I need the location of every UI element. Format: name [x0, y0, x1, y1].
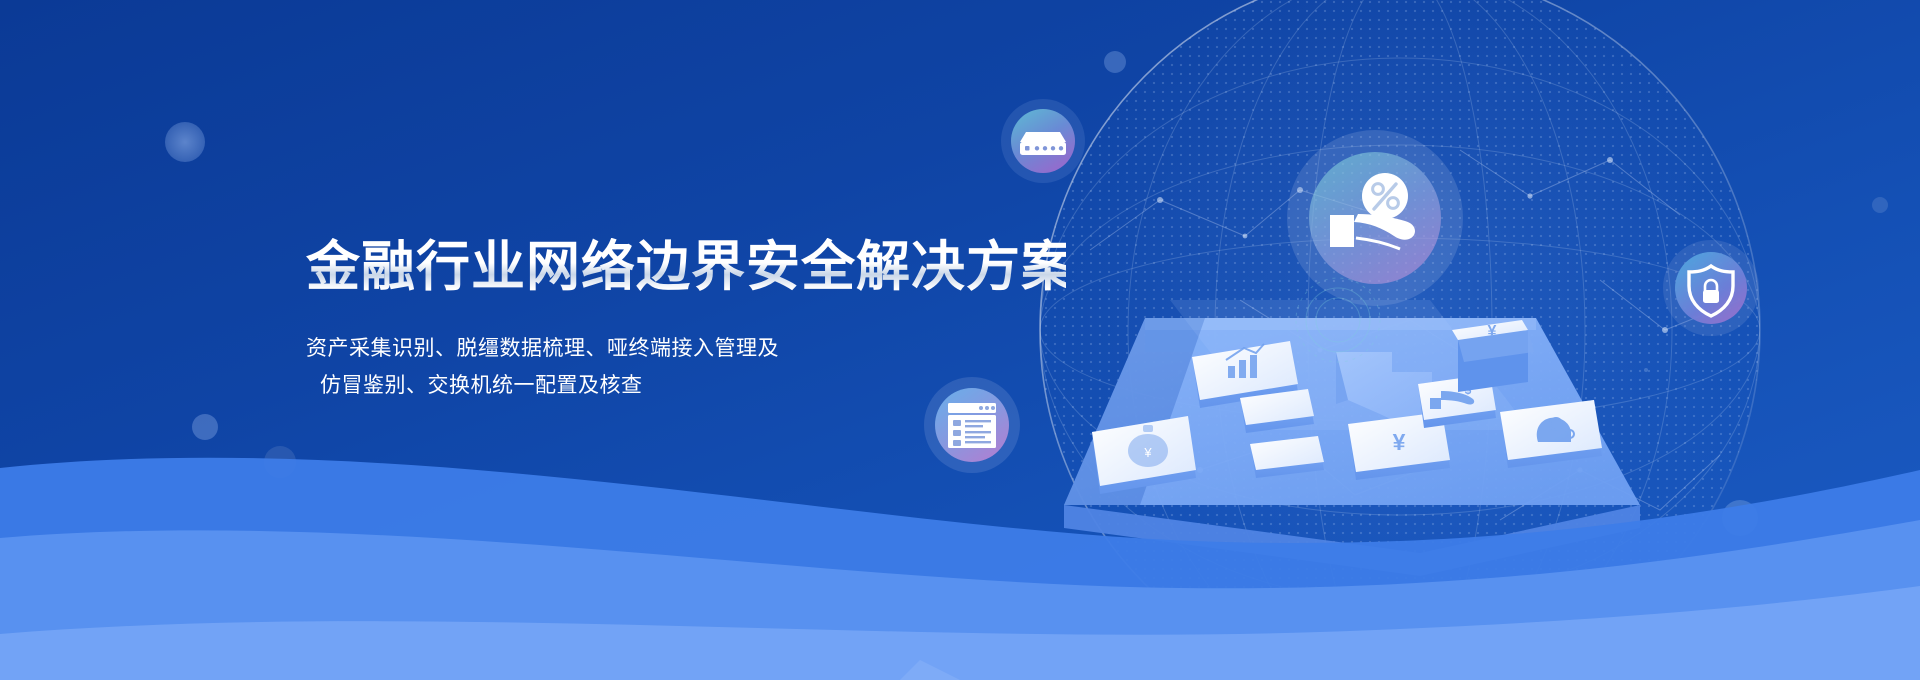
subtitle-line-1: 资产采集识别、脱缰数据梳理、哑终端接入管理及: [306, 331, 1066, 368]
subtitle-line-2: 仿冒鉴别、交换机统一配置及核查: [306, 368, 1066, 405]
finance-security-banner: ¥: [0, 0, 1920, 680]
banner-copy: 金融行业网络边界安全解决方案 资产采集识别、脱缰数据梳理、哑终端接入管理及 仿冒…: [306, 238, 1066, 405]
page-title: 金融行业网络边界安全解决方案: [306, 238, 1066, 297]
banner-subtitle: 资产采集识别、脱缰数据梳理、哑终端接入管理及 仿冒鉴别、交换机统一配置及核查: [306, 331, 1066, 405]
